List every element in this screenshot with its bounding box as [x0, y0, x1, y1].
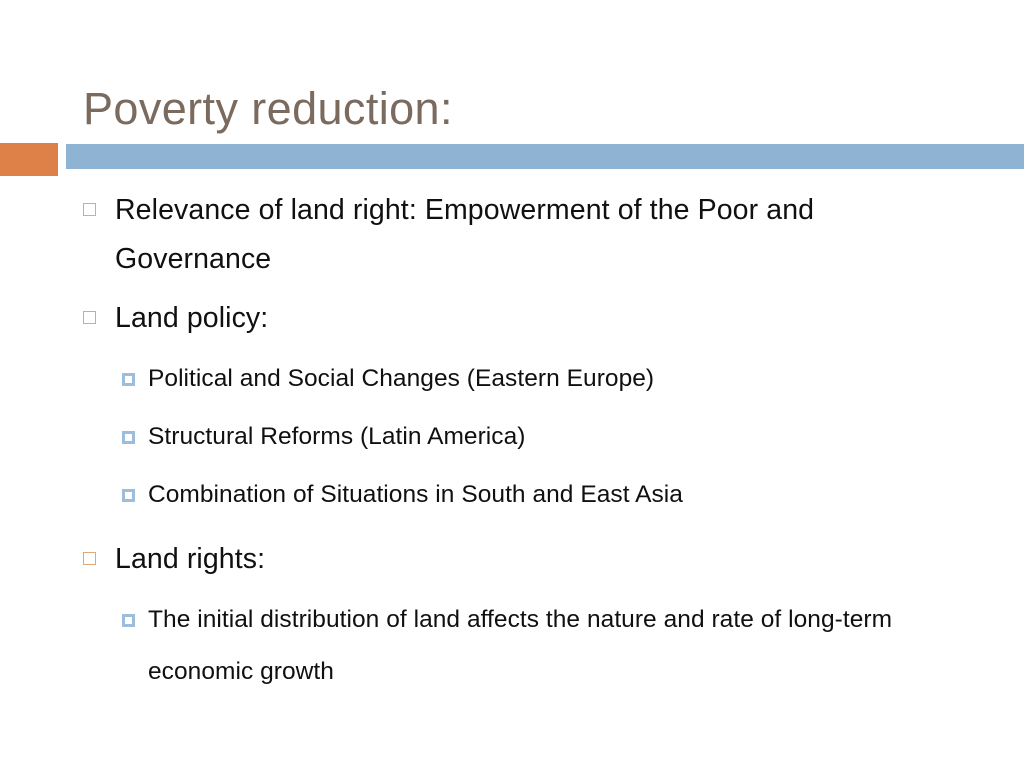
list-item-text: Relevance of land right: Empowerment of … [115, 186, 945, 284]
list-item-text: Political and Social Changes (Eastern Eu… [148, 353, 938, 405]
list-item: The initial distribution of land affects… [0, 594, 1024, 698]
list-item-text: The initial distribution of land affects… [148, 594, 938, 698]
list-item-text: Combination of Situations in South and E… [148, 469, 938, 521]
list-item: Combination of Situations in South and E… [0, 469, 1024, 521]
title-divider-accent-orange [0, 143, 58, 176]
bullet-square-icon [122, 373, 135, 386]
bullet-square-icon [122, 489, 135, 502]
list-item: Land policy: [0, 294, 1024, 343]
bullet-square-icon [122, 431, 135, 444]
bullet-square-icon [83, 311, 96, 324]
list-item-text: Land rights: [115, 535, 945, 584]
list-item: Structural Reforms (Latin America) [0, 411, 1024, 463]
list-item: Political and Social Changes (Eastern Eu… [0, 353, 1024, 405]
title-divider-bar-blue [66, 144, 1024, 169]
list-item: Land rights: [0, 535, 1024, 584]
bullet-square-icon [83, 203, 96, 216]
slide-body: Relevance of land right: Empowerment of … [0, 186, 1024, 704]
list-item-text: Land policy: [115, 294, 945, 343]
bullet-square-icon [83, 552, 96, 565]
page-title: Poverty reduction: [83, 80, 963, 138]
bullet-square-icon [122, 614, 135, 627]
list-item: Relevance of land right: Empowerment of … [0, 186, 1024, 284]
slide: Poverty reduction: Relevance of land rig… [0, 0, 1024, 768]
list-item-text: Structural Reforms (Latin America) [148, 411, 938, 463]
